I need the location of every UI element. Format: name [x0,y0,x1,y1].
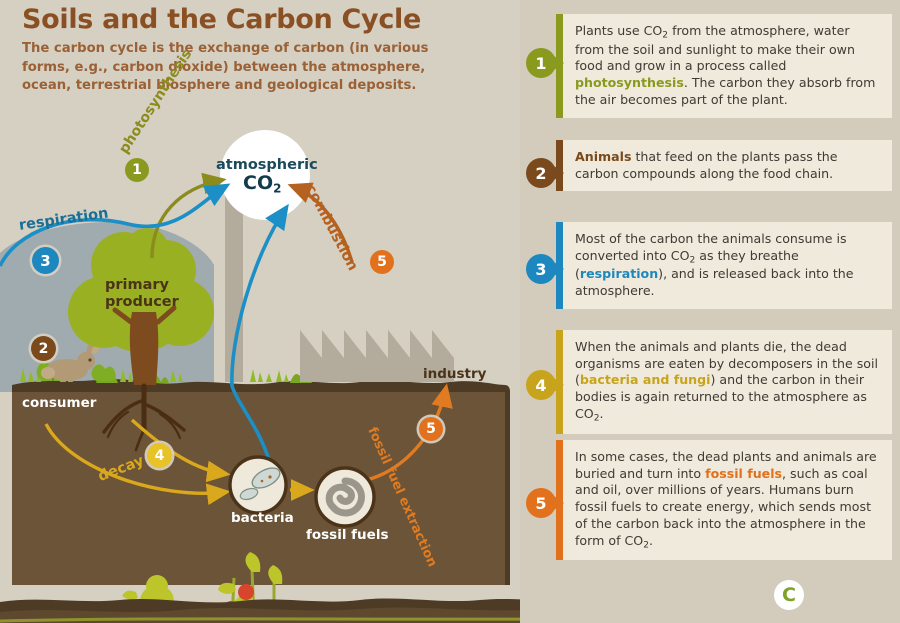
carbon-badge: C [774,580,804,610]
co2-label: CO2 [243,172,281,195]
atmospheric-label: atmospheric [216,157,318,173]
s1-before: Plants use CO [575,23,662,38]
step-card-2: 2 Animals that feed on the plants pass t… [556,140,892,191]
s1-highlight: photosynthesis [575,75,684,90]
infographic-canvas: Soils and the Carbon Cycle The carbon cy… [0,0,900,623]
step-badge-4[interactable]: 4 [526,370,556,400]
scene-badge-5-extraction: 5 [419,417,443,441]
scene-badge-2: 2 [31,336,56,361]
consumer-label: consumer [22,395,96,411]
primary-producer-line2: producer [105,294,179,310]
step-card-1: 1 Plants use CO2 from the atmosphere, wa… [556,14,892,118]
step-badge-3[interactable]: 3 [526,254,556,284]
industry-label: industry [423,366,486,382]
step-text-3: Most of the carbon the animals consume i… [563,222,892,309]
step-text-2: Animals that feed on the plants pass the… [563,140,892,191]
scene-badge-1: 1 [125,158,149,182]
s5-after: . [649,533,653,548]
scene-badge-3: 3 [32,247,59,274]
step-text-5: In some cases, the dead plants and anima… [563,440,892,560]
step-card-5: 5 In some cases, the dead plants and ani… [556,440,892,560]
step-text-1: Plants use CO2 from the atmosphere, wate… [563,14,892,118]
s3-highlight: respiration [580,266,658,281]
scene-badge-5-combustion: 5 [370,250,394,274]
step-text-4: When the animals and plants die, the dea… [563,330,892,434]
co2-subscript: 2 [273,181,281,195]
page-subtitle: The carbon cycle is the exchange of carb… [22,40,477,95]
bacteria-icon [230,457,286,513]
primary-producer-label: primaryproducer [105,277,179,311]
primary-producer-line1: primary [105,277,169,293]
step-badge-1[interactable]: 1 [526,48,556,78]
page-title: Soils and the Carbon Cycle [22,6,502,34]
step-card-4: 4 When the animals and plants die, the d… [556,330,892,434]
bottom-ground-strip [0,582,520,623]
step-badge-2[interactable]: 2 [526,158,556,188]
s5-highlight: fossil fuels [705,466,782,481]
s4-highlight: bacteria and fungi [580,372,711,387]
s4-after: . [600,406,604,421]
s2-highlight: Animals [575,149,631,164]
fossil-fuels-label: fossil fuels [306,527,388,543]
fossil-fuels-icon [316,468,374,526]
step-card-3: 3 Most of the carbon the animals consume… [556,222,892,309]
bacteria-label: bacteria [231,510,294,526]
co2-text: CO [243,172,273,194]
scene-badge-4: 4 [147,443,172,468]
header: Soils and the Carbon Cycle The carbon cy… [22,6,502,95]
step-badge-5[interactable]: 5 [526,488,556,518]
